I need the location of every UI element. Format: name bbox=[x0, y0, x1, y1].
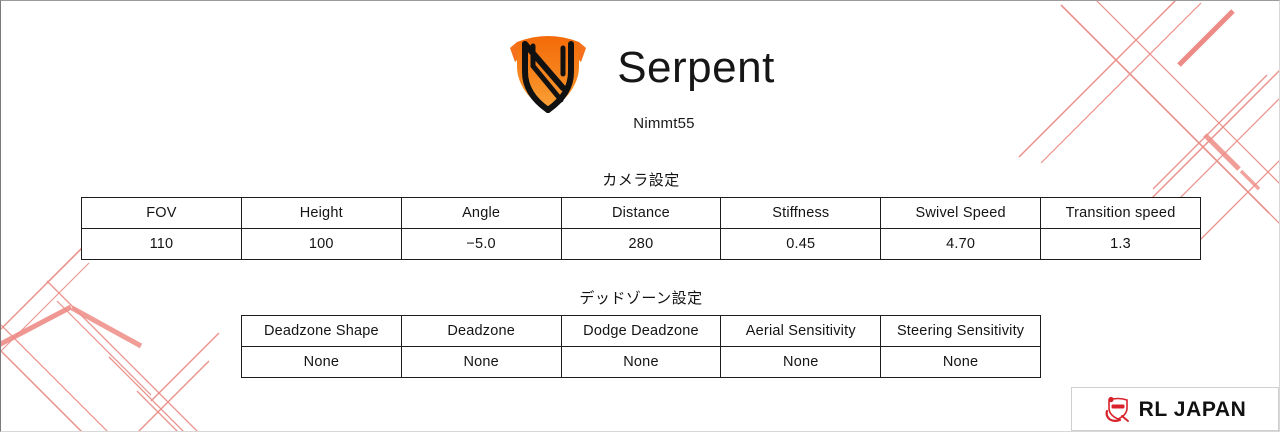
settings-card: Serpent Nimmt55 カメラ設定 FOV Height Angle D… bbox=[0, 0, 1280, 432]
camera-settings-title: カメラ設定 bbox=[81, 169, 1201, 190]
cell-value: None bbox=[721, 347, 881, 378]
table-row: None None None None None bbox=[242, 347, 1041, 378]
cell-value: 100 bbox=[241, 229, 401, 260]
team-name: Serpent bbox=[617, 46, 775, 90]
cell-value: 0.45 bbox=[721, 229, 881, 260]
cell-value: None bbox=[242, 347, 402, 378]
rl-japan-brand-text: RL JAPAN bbox=[1139, 399, 1247, 420]
table-header-row: Deadzone Shape Deadzone Dodge Deadzone A… bbox=[242, 316, 1041, 347]
cell-value: None bbox=[561, 347, 721, 378]
column-header: Deadzone bbox=[401, 316, 561, 347]
column-header: Angle bbox=[401, 198, 561, 229]
camera-settings-section: カメラ設定 FOV Height Angle Distance Stiffnes… bbox=[81, 169, 1201, 260]
column-header: Distance bbox=[561, 198, 721, 229]
team-identity: Serpent bbox=[505, 29, 775, 107]
deadzone-settings-title: デッドゾーン設定 bbox=[241, 287, 1041, 308]
column-header: Transition speed bbox=[1041, 198, 1201, 229]
cell-value: None bbox=[881, 347, 1041, 378]
deadzone-settings-section: デッドゾーン設定 Deadzone Shape Deadzone Dodge D… bbox=[241, 287, 1041, 378]
cell-value: −5.0 bbox=[401, 229, 561, 260]
cell-value: 1.3 bbox=[1041, 229, 1201, 260]
rl-japan-emblem-icon bbox=[1104, 396, 1132, 422]
card-header: Serpent Nimmt55 bbox=[1, 29, 1279, 132]
table-header-row: FOV Height Angle Distance Stiffness Swiv… bbox=[82, 198, 1201, 229]
column-header: Stiffness bbox=[721, 198, 881, 229]
cell-value: 4.70 bbox=[881, 229, 1041, 260]
camera-settings-table: FOV Height Angle Distance Stiffness Swiv… bbox=[81, 197, 1201, 260]
cell-value: 280 bbox=[561, 229, 721, 260]
player-name: Nimmt55 bbox=[633, 115, 694, 132]
column-header: Deadzone Shape bbox=[242, 316, 402, 347]
column-header: Swivel Speed bbox=[881, 198, 1041, 229]
table-row: 110 100 −5.0 280 0.45 4.70 1.3 bbox=[82, 229, 1201, 260]
column-header: Aerial Sensitivity bbox=[721, 316, 881, 347]
column-header: Dodge Deadzone bbox=[561, 316, 721, 347]
serpent-shield-logo-icon bbox=[505, 22, 591, 114]
column-header: FOV bbox=[82, 198, 242, 229]
cell-value: 110 bbox=[82, 229, 242, 260]
column-header: Height bbox=[241, 198, 401, 229]
cell-value: None bbox=[401, 347, 561, 378]
deadzone-settings-table: Deadzone Shape Deadzone Dodge Deadzone A… bbox=[241, 315, 1041, 378]
rl-japan-brand-badge: RL JAPAN bbox=[1071, 387, 1279, 431]
column-header: Steering Sensitivity bbox=[881, 316, 1041, 347]
